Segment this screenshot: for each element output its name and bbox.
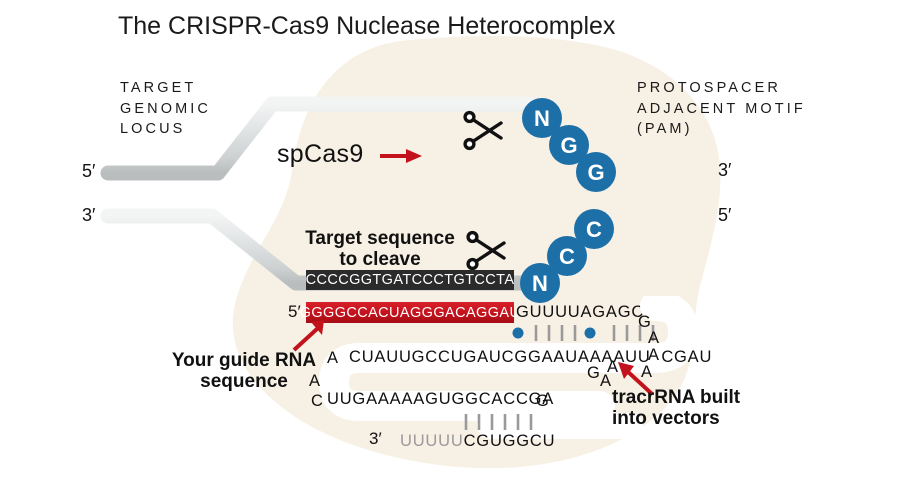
scissors-icon — [464, 228, 510, 276]
loop-letter: A — [309, 372, 320, 391]
callout-your-guide-rna-sequence: Your guide RNA sequence — [168, 350, 320, 392]
loop-letter: G — [587, 364, 600, 383]
loop-letter: A — [327, 349, 338, 368]
prime-label-rna-three: 3′ — [369, 429, 382, 449]
diagram-canvas: The CRISPR-Cas9 Nuclease Heterocomplex T… — [0, 0, 900, 500]
pam-circle-label: N — [534, 106, 550, 131]
target-dna-sequence-bar: CCCCGGTGATCCCTGTCCTA — [306, 270, 514, 290]
prime-label-dna-top-right: 3′ — [718, 160, 731, 181]
pam-circle-label: N — [532, 271, 548, 296]
scaffold-sequence-low: UUGAAAAAGUGGCACCGA — [327, 390, 554, 409]
prime-label-dna-bottom-right: 5′ — [718, 205, 731, 226]
callout-target-sequence-to-cleave: Target sequence to cleave — [305, 228, 455, 270]
loop-letter: C — [311, 392, 323, 411]
base-pair-marks-bottom — [460, 412, 570, 432]
spcas9-label: spCas9 — [277, 140, 364, 169]
scissors-icon — [461, 108, 507, 156]
callout-tracrrna-built-into-vectors: tracrRNA built into vectors — [612, 387, 792, 429]
pam-circle-label: G — [560, 133, 577, 158]
pam-circle-label: C — [559, 244, 575, 269]
pam-circles-bottom: C C N — [514, 207, 624, 307]
scaffold-sequence-bottom: UUUUUCGUGGCU — [400, 432, 555, 451]
arrow-right-icon — [378, 145, 426, 167]
pam-circle-label: C — [586, 217, 602, 242]
scaffold-bottom-gray: UUUUU — [400, 432, 464, 450]
prime-label-dna-bottom-left: 3′ — [82, 205, 95, 226]
scaffold-bottom-black: CGUGGCU — [464, 432, 556, 450]
prime-label-dna-top-left: 5′ — [82, 161, 95, 182]
pam-circle-label: G — [587, 160, 604, 185]
loop-letter: G — [536, 392, 549, 411]
pam-circles-top: N G G — [516, 96, 626, 196]
